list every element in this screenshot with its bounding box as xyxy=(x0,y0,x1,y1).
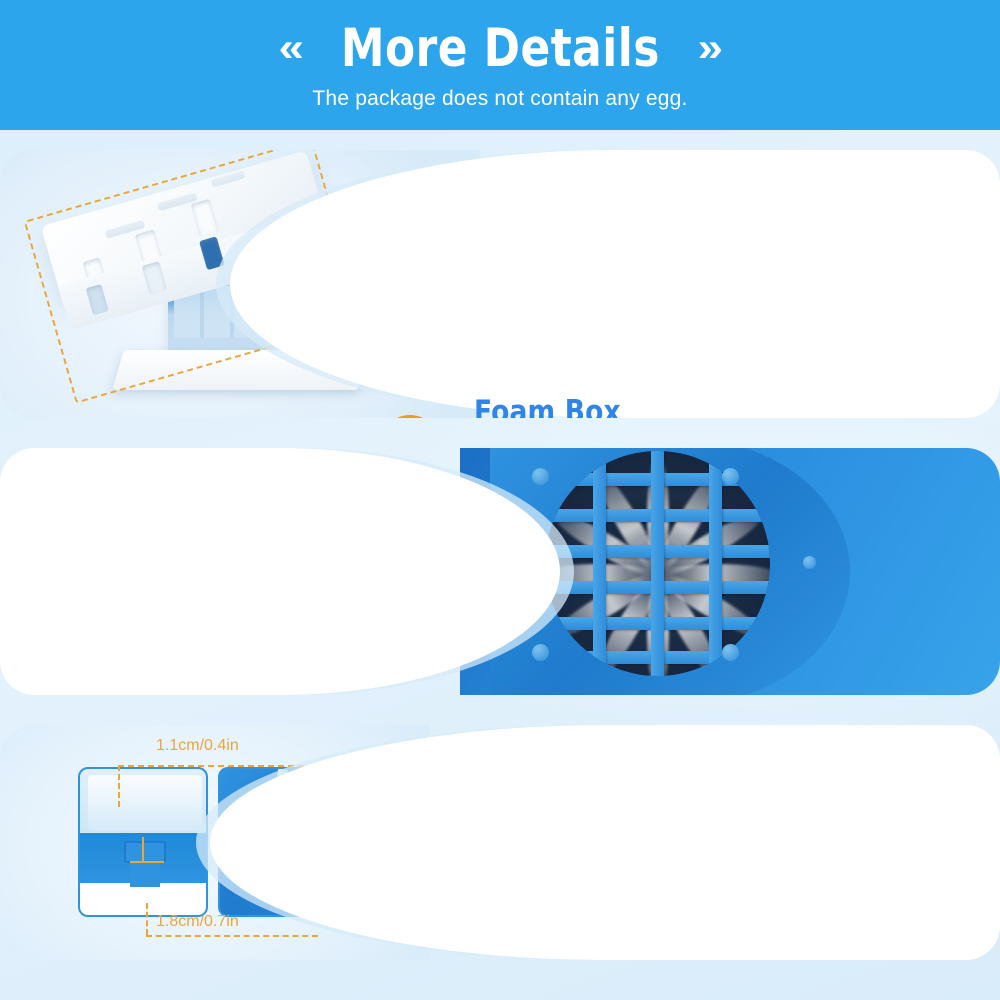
card-content-panel xyxy=(0,448,560,695)
water-tank-closeup xyxy=(78,767,208,917)
dimension-guide-bottom xyxy=(146,935,318,937)
fan-screw-top-right xyxy=(722,468,739,485)
fan-screw-bottom-left xyxy=(532,644,549,661)
card-content-panel xyxy=(230,150,1000,418)
detail-card-water-holes: 1.1cm/0.4in 1.8cm/0.7in 03 Water Injecti… xyxy=(0,725,1000,960)
left-chevron-icon: « xyxy=(279,28,302,68)
housing-rivet xyxy=(803,556,816,569)
fan-screw-bottom-right xyxy=(722,644,739,661)
dimension-label-bottom: 1.8cm/0.7in xyxy=(156,913,239,931)
header-title-row: « More Details » xyxy=(280,22,719,75)
page-header: « More Details » The package does not co… xyxy=(0,0,1000,130)
page-title: More Details xyxy=(341,22,660,75)
page-subtitle: The package does not contain any egg. xyxy=(312,87,687,111)
dimension-label-top: 1.1cm/0.4in xyxy=(156,737,239,755)
detail-card-foam-box: 88.8 88.8 xyxy=(0,150,1000,418)
card-content-panel xyxy=(210,725,1000,960)
card-text-01: Foam Box Reduce the Impact of External T… xyxy=(474,396,874,418)
infographic-page: « More Details » The package does not co… xyxy=(0,0,1000,1000)
detail-card-fan: 02 Temperature Equalizing Fan Work 24h t… xyxy=(0,448,1000,695)
fan-screw-top-left xyxy=(532,468,549,485)
card-title-01: Foam Box xyxy=(474,396,854,418)
right-chevron-icon: » xyxy=(698,28,721,68)
dimension-guide-top xyxy=(118,765,304,767)
injection-hole-notch xyxy=(124,841,166,863)
